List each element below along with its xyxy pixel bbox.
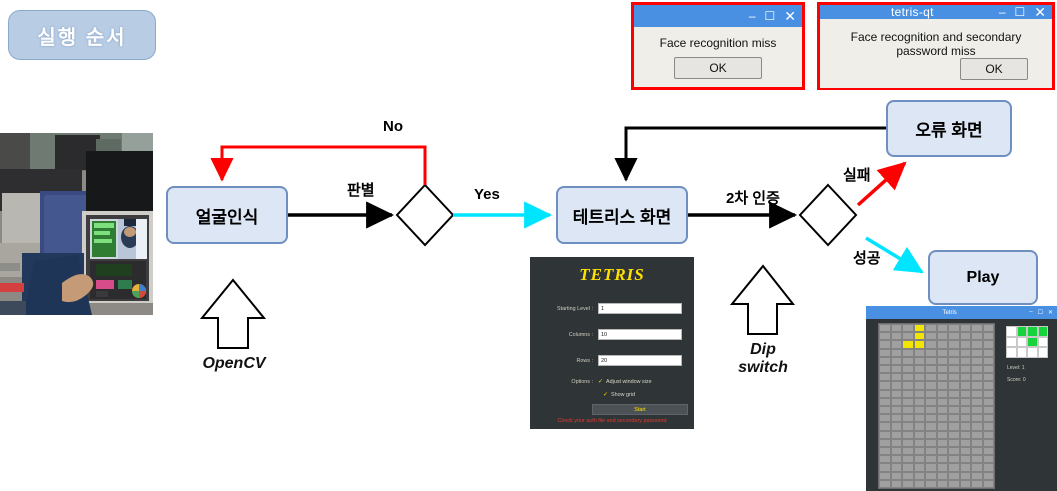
board-cell (879, 357, 891, 365)
board-cell (914, 455, 926, 463)
board-cell (948, 422, 960, 430)
dialog-ok-button[interactable]: OK (674, 57, 762, 79)
board-cell (925, 324, 937, 332)
board-cell (891, 447, 903, 455)
board-cell (914, 390, 926, 398)
caption-dip-switch: Dip switch (716, 341, 810, 378)
preview-cell (1027, 326, 1038, 337)
minimize-icon[interactable]: – (749, 10, 756, 22)
board-cell (983, 463, 995, 471)
dialog-body: Face recognition miss OK (634, 27, 802, 87)
board-cell (983, 431, 995, 439)
board-cell (891, 455, 903, 463)
board-cell (914, 365, 926, 373)
score-readout: Score: 0 (1007, 377, 1026, 383)
board-cell (914, 431, 926, 439)
hardware-photo-image (0, 133, 153, 315)
game-window-controls[interactable]: – ☐ ✕ (1029, 309, 1053, 316)
board-cell (971, 472, 983, 480)
board-cell (983, 332, 995, 340)
board-cell (971, 463, 983, 471)
board-cell (937, 349, 949, 357)
board-cell (879, 463, 891, 471)
board-cell (925, 349, 937, 357)
board-cell (948, 480, 960, 488)
next-piece-preview (1006, 326, 1048, 358)
field-rows-label: Rows : (530, 358, 598, 364)
board-cell (879, 373, 891, 381)
board-cell (879, 332, 891, 340)
check-icon: ✓ (598, 378, 603, 385)
board-cell (948, 332, 960, 340)
preview-cell (1038, 347, 1049, 358)
minimize-icon[interactable]: – (999, 6, 1006, 18)
board-cell (902, 373, 914, 381)
board-cell (925, 447, 937, 455)
board-cell (971, 406, 983, 414)
board-cell (879, 324, 891, 332)
options-row-1[interactable]: Options : ✓ Adjust window size (530, 378, 652, 385)
board-cell (891, 406, 903, 414)
tetris-config-title: TETRIS (530, 265, 694, 285)
board-cell (960, 439, 972, 447)
board-cell (925, 431, 937, 439)
block-arrow-dip-switch (732, 266, 793, 334)
board-cell (960, 340, 972, 348)
board-cell (925, 357, 937, 365)
board-cell (971, 398, 983, 406)
edge-label-success: 성공 (853, 247, 881, 268)
board-cell (925, 406, 937, 414)
board-cell (891, 324, 903, 332)
board-cell (948, 349, 960, 357)
board-cell (902, 365, 914, 373)
page-title-badge: 실행 순서 (8, 10, 156, 60)
board-cell (891, 431, 903, 439)
dialog-ok-button[interactable]: OK (960, 58, 1028, 80)
decision-diamond-face (397, 185, 453, 245)
edge-label-decide: 판별 (347, 179, 375, 200)
board-cell (983, 357, 995, 365)
board-cell (914, 324, 926, 332)
minimize-icon[interactable]: – (1029, 309, 1032, 316)
board-cell (983, 373, 995, 381)
board-cell (960, 349, 972, 357)
board-cell (914, 447, 926, 455)
board-cell (925, 398, 937, 406)
board-cell (891, 398, 903, 406)
board-cell (948, 373, 960, 381)
board-cell (937, 431, 949, 439)
board-cell (937, 373, 949, 381)
board-cell (960, 406, 972, 414)
board-cell (937, 381, 949, 389)
field-columns-input[interactable]: 10 (598, 329, 682, 340)
block-arrow-opencv (202, 280, 264, 348)
board-cell (960, 472, 972, 480)
field-rows[interactable]: Rows : 20 (530, 355, 682, 366)
decision-diamond-auth (800, 185, 856, 245)
board-cell (879, 480, 891, 488)
preview-cell (1017, 326, 1028, 337)
board-cell (983, 447, 995, 455)
maximize-icon[interactable]: ☐ (1038, 309, 1043, 316)
board-cell (960, 390, 972, 398)
board-cell (925, 332, 937, 340)
board-cell (937, 422, 949, 430)
dialog-titlebar[interactable]: – ☐ ✕ (634, 5, 802, 27)
board-cell (948, 398, 960, 406)
board-cell (971, 431, 983, 439)
board-cell (902, 463, 914, 471)
board-cell (960, 422, 972, 430)
board-cell (902, 447, 914, 455)
board-cell (948, 365, 960, 373)
node-play[interactable]: Play (928, 250, 1038, 305)
board-cell (879, 349, 891, 357)
board-cell (937, 455, 949, 463)
board-cell (948, 431, 960, 439)
board-cell (891, 340, 903, 348)
board-cell (971, 455, 983, 463)
board-cell (925, 472, 937, 480)
board-cell (879, 439, 891, 447)
dialog-body: Face recognition and secondary password … (820, 19, 1052, 88)
board-cell (937, 340, 949, 348)
board-cell (879, 390, 891, 398)
board-cell (914, 381, 926, 389)
board-cell (902, 390, 914, 398)
board-cell (914, 463, 926, 471)
board-cell (902, 431, 914, 439)
board-cell (937, 332, 949, 340)
board-cell (902, 332, 914, 340)
board-cell (879, 340, 891, 348)
board-cell (971, 340, 983, 348)
board-cell (914, 373, 926, 381)
board-cell (960, 357, 972, 365)
board-cell (937, 472, 949, 480)
board-cell (891, 472, 903, 480)
board-cell (891, 463, 903, 471)
board-cell (937, 406, 949, 414)
options-label: Options : (530, 379, 598, 385)
board-cell (937, 463, 949, 471)
board-cell (902, 414, 914, 422)
board-cell (879, 431, 891, 439)
board-cell (925, 414, 937, 422)
node-play-label: Play (967, 269, 1000, 287)
board-cell (948, 472, 960, 480)
board-cell (902, 357, 914, 365)
board-cell (983, 390, 995, 398)
board-cell (960, 381, 972, 389)
node-tetris-screen-label: 테트리스 화면 (573, 203, 672, 228)
board-cell (971, 414, 983, 422)
board-cell (971, 324, 983, 332)
field-starting-level-input[interactable]: 1 (598, 303, 682, 314)
board-cell (902, 472, 914, 480)
page-title: 실행 순서 (37, 21, 126, 50)
board-cell (983, 365, 995, 373)
board-cell (971, 422, 983, 430)
auth-warning-text: Check your auth file and secondary passw… (530, 418, 694, 424)
board-cell (948, 324, 960, 332)
board-cell (971, 390, 983, 398)
board-cell (925, 439, 937, 447)
edge-label-no: No (383, 118, 403, 135)
board-cell (971, 480, 983, 488)
board-cell (902, 324, 914, 332)
board-cell (925, 340, 937, 348)
board-cell (914, 480, 926, 488)
board-cell (960, 365, 972, 373)
field-rows-input[interactable]: 20 (598, 355, 682, 366)
field-starting-level[interactable]: Starting Level : 1 (530, 303, 682, 314)
board-cell (879, 422, 891, 430)
board-cell (983, 480, 995, 488)
window-controls[interactable]: – ☐ ✕ (749, 9, 796, 23)
options-row-2[interactable]: ✓ Show grid (603, 391, 635, 398)
node-face-recognition[interactable]: 얼굴인식 (166, 186, 288, 244)
board-cell (914, 357, 926, 365)
board-cell (879, 472, 891, 480)
board-cell (983, 439, 995, 447)
board-cell (971, 349, 983, 357)
dialog-message: Face recognition and secondary password … (828, 30, 1044, 58)
board-cell (937, 447, 949, 455)
tetris-game-window[interactable]: Tetris – ☐ ✕ Level: 1 Score: 0 (866, 306, 1057, 491)
board-cell (937, 439, 949, 447)
board-cell (925, 480, 937, 488)
board-cell (983, 472, 995, 480)
board-cell (960, 373, 972, 381)
board-cell (902, 406, 914, 414)
board-cell (891, 365, 903, 373)
board-cell (914, 349, 926, 357)
board-cell (914, 472, 926, 480)
hardware-photo (0, 133, 153, 315)
check-icon: ✓ (603, 391, 608, 398)
board-cell (960, 414, 972, 422)
dialog-face-recognition-miss[interactable]: – ☐ ✕ Face recognition miss OK (631, 2, 805, 90)
preview-cell (1017, 337, 1028, 348)
field-starting-level-label: Starting Level : (530, 306, 598, 312)
board-cell (891, 381, 903, 389)
preview-cell (1027, 337, 1038, 348)
preview-cell (1006, 337, 1017, 348)
node-face-recognition-label: 얼굴인식 (196, 203, 259, 228)
board-cell (948, 381, 960, 389)
board-cell (948, 406, 960, 414)
board-cell (902, 455, 914, 463)
board-cell (983, 406, 995, 414)
board-cell (971, 365, 983, 373)
board-cell (891, 439, 903, 447)
field-columns-label: Columns : (530, 332, 598, 338)
board-cell (902, 398, 914, 406)
checkbox-adjust-window-size[interactable]: ✓ Adjust window size (598, 378, 652, 385)
board-cell (937, 365, 949, 373)
preview-cell (1038, 326, 1049, 337)
board-cell (925, 373, 937, 381)
node-error-screen[interactable]: 오류 화면 (886, 100, 1012, 157)
board-cell (983, 398, 995, 406)
board-cell (891, 349, 903, 357)
board-cell (983, 422, 995, 430)
dialog-message: Face recognition miss (660, 36, 777, 50)
board-cell (948, 390, 960, 398)
board-cell (971, 439, 983, 447)
board-cell (960, 398, 972, 406)
board-cell (971, 332, 983, 340)
board-cell (983, 324, 995, 332)
window-controls[interactable]: – ☐ ✕ (999, 5, 1046, 19)
board-cell (902, 439, 914, 447)
board-cell (914, 422, 926, 430)
board-cell (937, 390, 949, 398)
board-cell (960, 431, 972, 439)
board-cell (983, 381, 995, 389)
board-cell (891, 332, 903, 340)
board-cell (925, 365, 937, 373)
board-cell (983, 455, 995, 463)
board-cell (960, 447, 972, 455)
node-tetris-screen[interactable]: 테트리스 화면 (556, 186, 688, 244)
dialog-titlebar[interactable]: tetris-qt – ☐ ✕ (820, 5, 1052, 19)
game-board[interactable] (878, 323, 995, 489)
level-readout: Level: 1 (1007, 365, 1025, 371)
board-cell (925, 422, 937, 430)
board-cell (914, 439, 926, 447)
board-cell (971, 373, 983, 381)
board-cell (891, 390, 903, 398)
board-cell (914, 414, 926, 422)
board-cell (948, 455, 960, 463)
board-cell (983, 349, 995, 357)
field-columns[interactable]: Columns : 10 (530, 329, 682, 340)
edge-label-second-auth: 2차 인증 (726, 187, 780, 208)
preview-cell (1006, 347, 1017, 358)
game-title: Tetris (870, 310, 1029, 316)
edge-label-yes: Yes (474, 186, 500, 203)
board-cell (879, 447, 891, 455)
board-cell (891, 373, 903, 381)
board-cell (902, 381, 914, 389)
board-cell (925, 463, 937, 471)
board-cell (914, 332, 926, 340)
start-button[interactable]: Start (592, 404, 688, 415)
caption-opencv: OpenCV (182, 355, 286, 373)
board-cell (948, 340, 960, 348)
close-icon[interactable]: ✕ (784, 9, 796, 23)
board-cell (983, 340, 995, 348)
board-cell (891, 357, 903, 365)
board-cell (948, 463, 960, 471)
preview-cell (1038, 337, 1049, 348)
board-cell (948, 414, 960, 422)
edge-label-fail: 실패 (843, 164, 871, 185)
board-cell (925, 390, 937, 398)
board-cell (948, 439, 960, 447)
board-cell (879, 455, 891, 463)
board-cell (937, 480, 949, 488)
preview-cell (1027, 347, 1038, 358)
board-cell (879, 414, 891, 422)
board-cell (937, 414, 949, 422)
board-cell (960, 480, 972, 488)
board-cell (960, 463, 972, 471)
close-icon[interactable]: ✕ (1034, 5, 1046, 19)
board-cell (925, 455, 937, 463)
maximize-icon[interactable]: ☐ (765, 10, 776, 22)
game-titlebar[interactable]: Tetris – ☐ ✕ (866, 306, 1057, 319)
dialog-secondary-password-miss[interactable]: tetris-qt – ☐ ✕ Face recognition and sec… (817, 2, 1055, 90)
board-cell (879, 365, 891, 373)
board-cell (902, 340, 914, 348)
board-cell (879, 381, 891, 389)
board-cell (937, 357, 949, 365)
checkbox-show-grid[interactable]: ✓ Show grid (603, 391, 635, 398)
board-cell (879, 398, 891, 406)
board-cell (971, 357, 983, 365)
node-error-screen-label: 오류 화면 (915, 116, 982, 141)
board-cell (891, 480, 903, 488)
checkbox-show-grid-label: Show grid (611, 392, 635, 398)
preview-cell (1006, 326, 1017, 337)
edge-no-loop (222, 147, 425, 185)
board-cell (983, 414, 995, 422)
close-icon[interactable]: ✕ (1048, 309, 1053, 316)
board-cell (960, 332, 972, 340)
board-cell (925, 381, 937, 389)
board-cell (971, 381, 983, 389)
flowchart-canvas: 실행 순서 (0, 0, 1057, 491)
board-cell (948, 447, 960, 455)
board-cell (971, 447, 983, 455)
board-cell (914, 398, 926, 406)
board-cell (891, 422, 903, 430)
board-cell (902, 349, 914, 357)
board-cell (902, 480, 914, 488)
board-cell (960, 455, 972, 463)
checkbox-adjust-window-size-label: Adjust window size (606, 379, 652, 385)
board-cell (902, 422, 914, 430)
board-cell (879, 406, 891, 414)
board-cell (914, 340, 926, 348)
board-cell (914, 406, 926, 414)
board-cell (960, 324, 972, 332)
board-cell (937, 398, 949, 406)
board-cell (937, 324, 949, 332)
dialog-title: tetris-qt (826, 5, 999, 19)
tetris-config-window[interactable]: TETRIS Starting Level : 1 Columns : 10 R… (530, 257, 694, 429)
board-cell (948, 357, 960, 365)
maximize-icon[interactable]: ☐ (1015, 6, 1026, 18)
preview-cell (1017, 347, 1028, 358)
board-cell (891, 414, 903, 422)
